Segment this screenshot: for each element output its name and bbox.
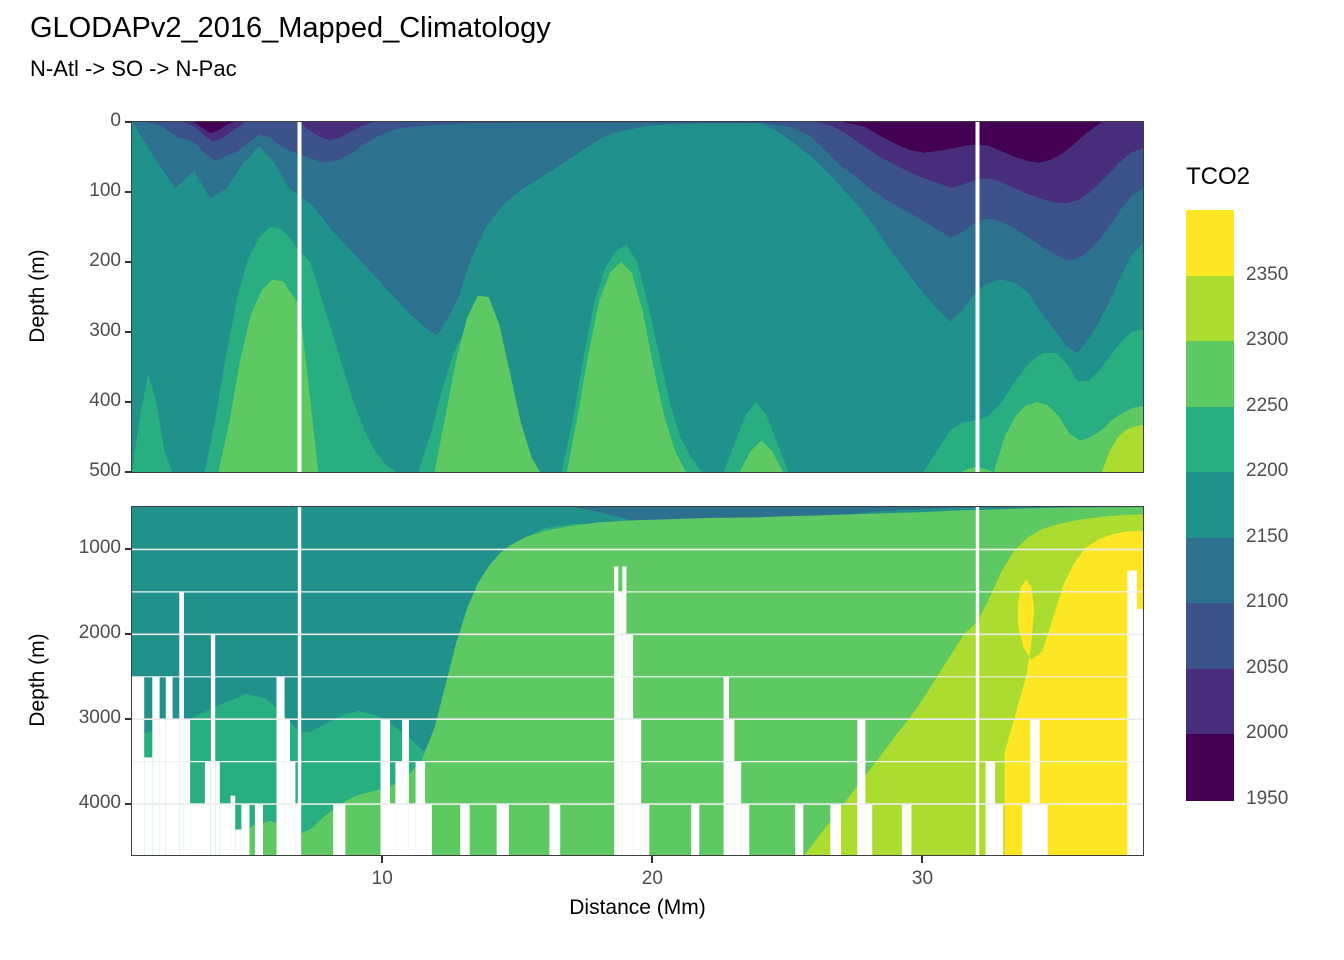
x-axis-tick-mark <box>651 856 653 863</box>
legend-title: TCO2 <box>1186 163 1250 191</box>
y-axis-bottom-tick-label: 2000 <box>41 622 121 644</box>
y-axis-top-tick-mark <box>125 331 131 333</box>
legend-tick-label: 2250 <box>1246 395 1288 417</box>
y-axis-top-tick-mark <box>125 261 131 263</box>
upper-ocean-section-svg <box>132 122 1143 472</box>
y-axis-bottom-tick-mark <box>125 633 131 635</box>
y-axis-top-tick-label: 200 <box>41 250 121 272</box>
y-axis-top-tick-label: 100 <box>41 180 121 202</box>
page-subtitle: N-Atl -> SO -> N-Pac <box>30 56 237 82</box>
y-axis-top-tick-label: 300 <box>41 320 121 342</box>
legend-tick-label: 2100 <box>1246 591 1288 613</box>
legend-swatch <box>1186 669 1234 735</box>
page-title: GLODAPv2_2016_Mapped_Climatology <box>30 12 551 45</box>
figure-root: GLODAPv2_2016_Mapped_Climatology N-Atl -… <box>0 0 1344 960</box>
y-axis-bottom-tick-mark <box>125 718 131 720</box>
x-axis-tick-label: 20 <box>612 868 692 890</box>
y-axis-bottom-tick-label: 1000 <box>41 537 121 559</box>
legend-swatch <box>1186 407 1234 473</box>
legend-swatch <box>1186 734 1234 800</box>
legend-swatch <box>1186 341 1234 407</box>
y-axis-top-tick-mark <box>125 121 131 123</box>
x-axis-tick-mark <box>921 856 923 863</box>
legend-tick-label: 2200 <box>1246 460 1288 482</box>
legend-tick-label: 2050 <box>1246 657 1288 679</box>
y-axis-top-tick-label: 500 <box>41 460 121 482</box>
legend-tick-label: 2300 <box>1246 329 1288 351</box>
x-axis-tick-label: 10 <box>342 868 422 890</box>
legend-swatch <box>1186 538 1234 604</box>
deep-ocean-section-svg <box>132 507 1143 855</box>
y-axis-top-tick-label: 400 <box>41 390 121 412</box>
y-axis-title-top: Depth (m) <box>26 120 50 472</box>
legend-swatch <box>1186 210 1234 276</box>
y-axis-bottom-tick-label: 4000 <box>41 792 121 814</box>
y-axis-bottom-tick-label: 3000 <box>41 707 121 729</box>
legend-tick-label: 2150 <box>1246 526 1288 548</box>
y-axis-bottom-tick-mark <box>125 803 131 805</box>
x-axis-tick-label: 30 <box>882 868 962 890</box>
legend-tick-label: 2000 <box>1246 722 1288 744</box>
legend-swatch <box>1186 603 1234 669</box>
x-axis-tick-mark <box>381 856 383 863</box>
y-axis-bottom-tick-mark <box>125 548 131 550</box>
legend-swatch <box>1186 472 1234 538</box>
legend-tick-label: 1950 <box>1246 788 1288 810</box>
x-axis-title: Distance (Mm) <box>331 896 944 920</box>
legend-tick-label: 2350 <box>1246 264 1288 286</box>
legend-colorbar[interactable] <box>1186 210 1234 800</box>
y-axis-top-tick-label: 0 <box>41 110 121 132</box>
y-axis-top-tick-mark <box>125 471 131 473</box>
panel-deep-ocean <box>131 506 1144 856</box>
panel-upper-ocean <box>131 121 1144 473</box>
y-axis-top-tick-mark <box>125 401 131 403</box>
y-axis-top-tick-mark <box>125 191 131 193</box>
legend-swatch <box>1186 276 1234 342</box>
